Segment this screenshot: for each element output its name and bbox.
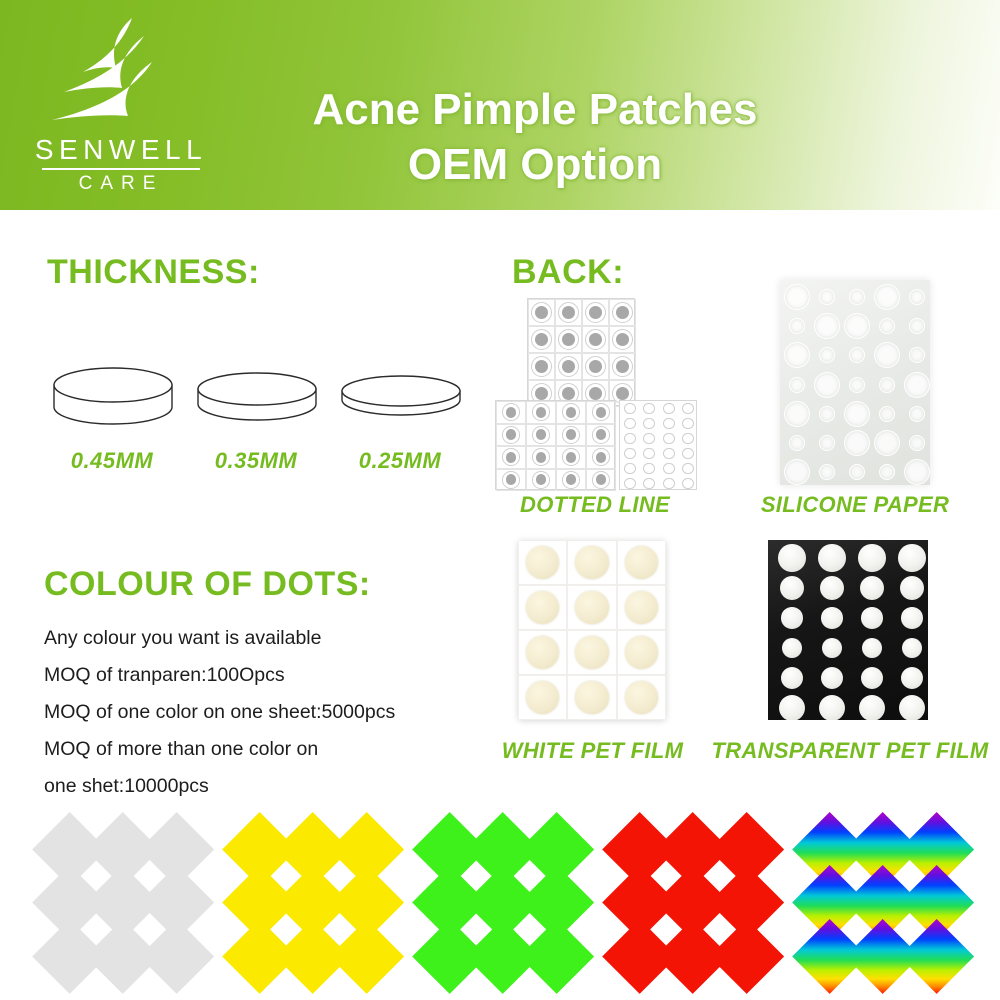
transparent-patch-dot — [820, 576, 844, 600]
patch-dot — [536, 452, 547, 463]
silicone-patch-dot — [874, 284, 900, 310]
logo-wordmark: SENWELL — [32, 136, 210, 164]
patch-dot — [562, 333, 575, 346]
colour-line-1: MOQ of tranparen:100Opcs — [44, 657, 494, 694]
silicone-patch-dot — [819, 435, 835, 451]
transparent-patch-dot — [861, 667, 884, 690]
colour-swatch-green — [422, 822, 582, 982]
silicone-patch-dot — [784, 401, 810, 427]
thickness-label-0: 0.45MM — [42, 448, 182, 474]
silicone-patch-dot — [819, 289, 835, 305]
silicone-patch-dot — [789, 435, 805, 451]
patch-outline — [682, 478, 694, 490]
hydrocolloid-dot — [625, 546, 658, 579]
caption-silicone-paper: SILICONE PAPER — [745, 492, 965, 518]
patch-outline — [663, 478, 675, 490]
patch-outline — [624, 418, 636, 430]
transparent-patch-dot — [779, 695, 805, 720]
transparent-patch-dot — [778, 544, 806, 572]
header-banner: SENWELL CARE Acne Pimple Patches OEM Opt… — [0, 0, 1000, 210]
transparent-patch-dot — [858, 544, 886, 572]
patch-outline — [663, 433, 675, 445]
colour-line-3: MOQ of more than one color on — [44, 731, 494, 768]
transparent-patch-dot — [822, 638, 842, 658]
patch-dot — [536, 407, 547, 418]
hydrocolloid-dot — [575, 546, 608, 579]
transparent-patch-dot — [859, 695, 885, 720]
patch-dot — [506, 452, 517, 463]
patch-dot — [566, 452, 577, 463]
colour-line-4: one shet:10000pcs — [44, 768, 494, 805]
silicone-patch-dot — [789, 318, 805, 334]
transparent-patch-dot — [861, 607, 883, 629]
colour-of-dots-heading: COLOUR OF DOTS: — [44, 565, 371, 604]
thickness-label-1: 0.35MM — [186, 448, 326, 474]
title-line-1: Acne Pimple Patches — [312, 85, 757, 134]
patch-diamond — [519, 919, 594, 994]
patch-outline — [643, 448, 655, 460]
transparent-patch-dot — [821, 607, 843, 629]
thickness-label-2: 0.25MM — [330, 448, 470, 474]
silicone-patch-dot — [909, 318, 925, 334]
caption-transparent-pet-film: TRANSPARENT PET FILM — [710, 738, 990, 764]
infographic-page: SENWELL CARE Acne Pimple Patches OEM Opt… — [0, 0, 1000, 1000]
silicone-patch-dot — [849, 377, 865, 393]
hydrocolloid-dot — [575, 591, 608, 624]
silicone-patch-dot — [844, 401, 870, 427]
transparent-patch-dot — [901, 667, 924, 690]
silicone-patch-dot — [874, 342, 900, 368]
patch-outline — [663, 448, 675, 460]
silicone-patch-dot — [909, 435, 925, 451]
silicone-patch-dot — [909, 289, 925, 305]
patch-diamond — [329, 919, 404, 994]
flame-leaf-logo-icon — [36, 16, 166, 138]
transparent-patch-dot — [781, 667, 804, 690]
hydrocolloid-dot — [625, 591, 658, 624]
patch-outline — [624, 478, 636, 490]
white-pet-film-photo — [518, 540, 666, 720]
silicone-patch-dot — [784, 342, 810, 368]
transparent-patch-dot — [862, 638, 882, 658]
patch-outline — [643, 403, 655, 415]
disc-cylinder-icon — [192, 355, 322, 435]
patch-outline — [643, 463, 655, 475]
transparent-patch-dot — [860, 576, 884, 600]
thickness-disc-2 — [336, 355, 466, 435]
patch-dot — [562, 387, 575, 400]
silicone-patch-dot — [819, 406, 835, 422]
thickness-disc-0 — [48, 355, 178, 435]
patch-dot — [535, 387, 548, 400]
transparent-patch-dot — [819, 695, 845, 720]
transparent-patch-dot — [899, 695, 925, 720]
patch-diamond — [139, 919, 214, 994]
patch-dot — [566, 407, 577, 418]
silicone-patch-dot — [879, 406, 895, 422]
silicone-patch-dot — [849, 464, 865, 480]
patch-diamond — [709, 919, 784, 994]
silicone-patch-dot — [819, 347, 835, 363]
patch-dot — [616, 333, 629, 346]
silicone-patch-dot — [909, 406, 925, 422]
transparent-patch-dot — [902, 638, 922, 658]
perforated-sheet-left — [495, 400, 615, 490]
hydrocolloid-dot — [625, 681, 658, 714]
logo-divider — [42, 168, 200, 170]
transparent-patch-dot — [900, 576, 924, 600]
disc-cylinder-icon — [48, 355, 178, 435]
silicone-patch-dot — [909, 347, 925, 363]
transparent-patch-dot — [821, 667, 844, 690]
silicone-patch-dot — [904, 459, 930, 485]
hydrocolloid-dot — [575, 636, 608, 669]
patch-outline — [682, 448, 694, 460]
transparent-patch-dot — [898, 544, 926, 572]
patch-outline — [682, 418, 694, 430]
silicone-patch-dot — [814, 372, 840, 398]
transparent-patch-dot — [780, 576, 804, 600]
perforated-sheet-top — [527, 298, 635, 406]
patch-dot — [616, 306, 629, 319]
patch-dot — [562, 360, 575, 373]
patch-dot — [506, 407, 517, 418]
silicone-patch-dot — [879, 464, 895, 480]
patch-diamond — [899, 919, 974, 994]
patch-outline — [682, 433, 694, 445]
silicone-patch-dot — [879, 318, 895, 334]
page-title: Acne Pimple Patches OEM Option — [210, 82, 860, 192]
transparent-patch-dot — [782, 638, 802, 658]
colour-swatch-yellow — [232, 822, 392, 982]
patch-outline — [663, 463, 675, 475]
patch-dot — [589, 360, 602, 373]
colour-swatch-rainbow — [802, 822, 962, 982]
colour-line-0: Any colour you want is available — [44, 620, 494, 657]
transparent-pet-film-photo — [768, 540, 928, 720]
logo-subtitle: CARE — [32, 174, 210, 193]
silicone-patch-dot — [819, 464, 835, 480]
patch-outline — [624, 433, 636, 445]
patch-outline — [643, 418, 655, 430]
silicone-patch-dot — [814, 313, 840, 339]
patch-outline — [624, 403, 636, 415]
patch-dot — [562, 306, 575, 319]
patch-outline — [643, 433, 655, 445]
silicone-patch-dot — [784, 459, 810, 485]
silicone-patch-dot — [849, 289, 865, 305]
silicone-patch-dot — [789, 377, 805, 393]
brand-logo: SENWELL CARE — [28, 16, 213, 196]
patch-dot — [535, 306, 548, 319]
patch-outline — [624, 463, 636, 475]
silicone-paper-photo — [780, 280, 930, 485]
colour-line-2: MOQ of one color on one sheet:5000pcs — [44, 694, 494, 731]
colour-of-dots-copy: Any colour you want is available MOQ of … — [44, 620, 494, 805]
hydrocolloid-dot — [575, 681, 608, 714]
dotted-line-illustration — [495, 298, 695, 488]
patch-outline — [682, 463, 694, 475]
perforated-sheet-right — [619, 400, 697, 490]
patch-outline — [682, 403, 694, 415]
transparent-patch-dot — [901, 607, 923, 629]
caption-dotted-line: DOTTED LINE — [495, 492, 695, 518]
silicone-patch-dot — [904, 372, 930, 398]
thickness-disc-1 — [192, 355, 322, 435]
disc-cylinder-icon — [336, 355, 466, 435]
silicone-patch-dot — [849, 347, 865, 363]
patch-dot — [535, 360, 548, 373]
patch-dot — [616, 387, 629, 400]
patch-dot — [535, 333, 548, 346]
patch-outline — [643, 478, 655, 490]
colour-swatch-red — [612, 822, 772, 982]
transparent-patch-dot — [781, 607, 803, 629]
back-heading: BACK: — [512, 253, 624, 292]
patch-dot — [589, 333, 602, 346]
silicone-patch-dot — [844, 313, 870, 339]
patch-dot — [596, 407, 607, 418]
silicone-patch-dot — [844, 430, 870, 456]
patch-outline — [624, 448, 636, 460]
patch-outline — [663, 418, 675, 430]
caption-white-pet-film: WHITE PET FILM — [490, 738, 695, 764]
thickness-heading: THICKNESS: — [47, 253, 260, 292]
patch-outline — [663, 403, 675, 415]
colour-swatch-transparent-white — [42, 822, 202, 982]
title-line-2: OEM Option — [210, 137, 860, 192]
silicone-patch-dot — [879, 377, 895, 393]
patch-dot — [596, 452, 607, 463]
patch-dot — [589, 306, 602, 319]
silicone-patch-dot — [784, 284, 810, 310]
transparent-patch-dot — [818, 544, 846, 572]
silicone-patch-dot — [874, 430, 900, 456]
patch-dot — [589, 387, 602, 400]
patch-dot — [616, 360, 629, 373]
hydrocolloid-dot — [625, 636, 658, 669]
